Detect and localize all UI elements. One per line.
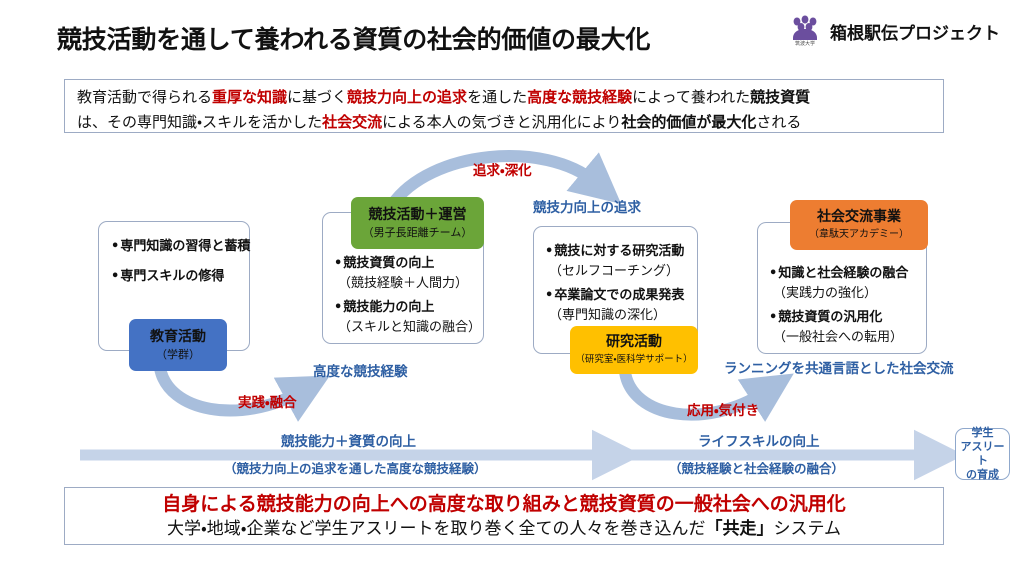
tag-research-subtitle: （研究室・医科学サポート） bbox=[575, 352, 692, 367]
summary-line-2-c: システム bbox=[774, 519, 842, 539]
list-item: 専門知識の習得と蓄積 bbox=[111, 238, 249, 255]
tag-social[interactable]: 社会交流事業 （韋駄天アカデミー） bbox=[790, 200, 928, 250]
tag-social-subtitle: （韋駄天アカデミー） bbox=[809, 227, 909, 242]
tag-social-title: 社会交流事業 bbox=[817, 208, 901, 226]
list-item: 知識と社会経験の融合 （実践力の強化） bbox=[769, 265, 926, 302]
summary-box: 自身による競技能力の向上への高度な取り組みと競技資質の一般社会への汎用化 大学・… bbox=[64, 487, 944, 545]
summary-line-1: 自身による競技能力の向上への高度な取り組みと競技資質の一般社会への汎用化 bbox=[162, 491, 845, 517]
list-item-head: 競技資質の向上 bbox=[334, 256, 434, 271]
slide-root: 競技活動を通して養われる資質の社会的価値の最大化 筑波大学 箱根駅伝プロジェクト… bbox=[0, 0, 1024, 576]
outcome-line-1: 学生 bbox=[956, 426, 1009, 440]
label-arc-top-blue: 競技力向上の追求 bbox=[533, 196, 641, 216]
list-item-head: 競技に対する研究活動 bbox=[545, 244, 684, 259]
outcome-line-2: アスリート bbox=[956, 440, 1009, 468]
label-band-right-main: ライフスキルの向上 bbox=[698, 430, 820, 450]
label-arc-right-blue: ランニングを共通言語とした社会交流 bbox=[724, 357, 954, 377]
tag-education[interactable]: 教育活動 （学群） bbox=[129, 319, 227, 371]
list-item: 専門スキルの修得 bbox=[111, 268, 249, 285]
tag-research-title: 研究活動 bbox=[606, 333, 662, 351]
summary-line-2-emphasis: 「共走」 bbox=[706, 519, 774, 539]
card-athletic-list: 競技資質の向上 （競技経験＋人間力） 競技能力の向上 （スキルと知識の融合） bbox=[334, 255, 483, 336]
list-item-head: 競技資質の汎用化 bbox=[769, 310, 882, 325]
card-research-list: 競技に対する研究活動 （セルフコーチング） 卒業論文での成果発表 （専門知識の深… bbox=[545, 243, 697, 324]
list-item-head: 卒業論文での成果発表 bbox=[545, 288, 684, 303]
outcome-line-3: の育成 bbox=[956, 468, 1009, 482]
list-item-sub: （スキルと知識の融合） bbox=[334, 319, 483, 336]
label-band-left-main: 競技能力＋資質の向上 bbox=[281, 430, 416, 450]
card-social-list: 知識と社会経験の融合 （実践力の強化） 競技資質の汎用化 （一般社会への転用） bbox=[769, 265, 926, 346]
label-arc-right-red: 応用・気付き bbox=[687, 399, 759, 419]
list-item-sub: （一般社会への転用） bbox=[769, 329, 926, 346]
tag-education-title: 教育活動 bbox=[150, 328, 206, 346]
tag-athletic-title: 競技活動＋運営 bbox=[369, 206, 467, 224]
list-item: 競技能力の向上 （スキルと知識の融合） bbox=[334, 299, 483, 336]
tag-athletic-subtitle: （男子長距離チーム） bbox=[363, 225, 473, 240]
list-item: 卒業論文での成果発表 （専門知識の深化） bbox=[545, 287, 697, 324]
list-item: 競技資質の汎用化 （一般社会への転用） bbox=[769, 309, 926, 346]
label-arc-top-red: 追求・深化 bbox=[473, 159, 532, 179]
list-item-sub: （セルフコーチング） bbox=[545, 263, 697, 280]
label-arc-left-red: 実践・融合 bbox=[238, 391, 297, 411]
list-item-sub: （専門知識の深化） bbox=[545, 307, 697, 324]
tag-athletic[interactable]: 競技活動＋運営 （男子長距離チーム） bbox=[351, 197, 484, 249]
list-item-head: 専門知識の習得と蓄積 bbox=[111, 239, 250, 254]
list-item-head: 専門スキルの修得 bbox=[111, 269, 224, 284]
list-item-head: 競技能力の向上 bbox=[334, 300, 434, 315]
list-item: 競技に対する研究活動 （セルフコーチング） bbox=[545, 243, 697, 280]
summary-line-2: 大学・地域・企業など学生アスリートを取り巻く全ての人々を巻き込んだ「共走」システ… bbox=[167, 517, 841, 541]
label-band-right-sub: （競技経験と社会経験の融合） bbox=[669, 458, 844, 477]
card-education-list: 専門知識の習得と蓄積 専門スキルの修得 bbox=[111, 238, 249, 285]
list-item-sub: （実践力の強化） bbox=[769, 285, 926, 302]
label-band-left-sub: （競技力向上の追求を通した高度な競技経験） bbox=[224, 458, 487, 477]
list-item: 競技資質の向上 （競技経験＋人間力） bbox=[334, 255, 483, 292]
label-arc-left-blue: 高度な競技経験 bbox=[313, 360, 408, 380]
tag-research[interactable]: 研究活動 （研究室・医科学サポート） bbox=[570, 326, 698, 374]
outcome-box: 学生 アスリート の育成 bbox=[955, 428, 1010, 480]
tag-education-subtitle: （学群） bbox=[156, 347, 200, 362]
summary-line-2-a: 大学・地域・企業など学生アスリートを取り巻く全ての人々を巻き込んだ bbox=[167, 519, 706, 539]
list-item-sub: （競技経験＋人間力） bbox=[334, 275, 483, 292]
list-item-head: 知識と社会経験の融合 bbox=[769, 266, 908, 281]
